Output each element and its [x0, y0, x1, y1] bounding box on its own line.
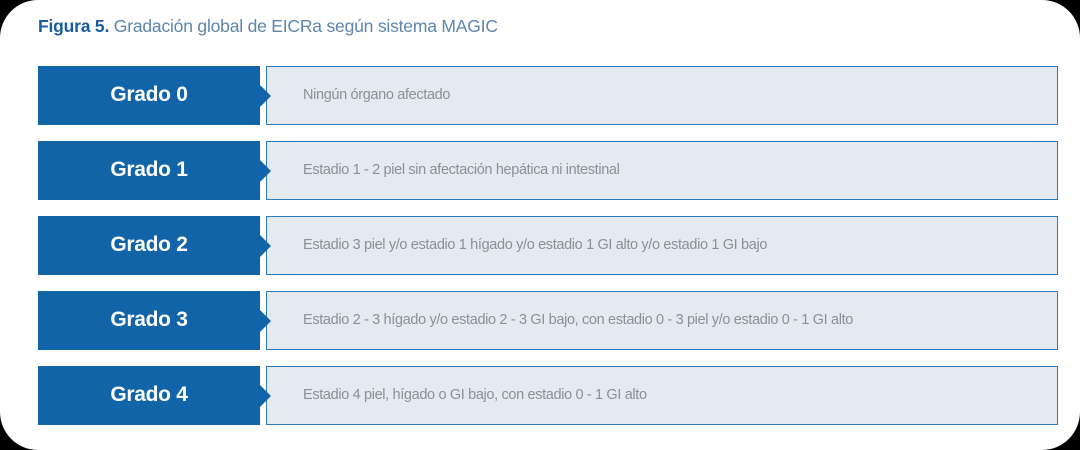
chevron-right-icon: [260, 385, 271, 407]
grade-description-text: Estadio 2 - 3 hígado y/o estadio 2 - 3 G…: [303, 311, 853, 329]
grade-block: Grado 4: [38, 366, 260, 425]
grade-description-panel: Estadio 3 piel y/o estadio 1 hígado y/o …: [266, 216, 1058, 275]
grade-description-text: Estadio 4 piel, hígado o GI bajo, con es…: [303, 386, 647, 404]
grade-description-panel: Estadio 1 - 2 piel sin afectación hepáti…: [266, 141, 1058, 200]
grade-description-panel: Estadio 2 - 3 hígado y/o estadio 2 - 3 G…: [266, 291, 1058, 350]
grade-block: Grado 1: [38, 141, 260, 200]
grade-label: Grado 1: [110, 159, 187, 180]
grade-list: Grado 0 Ningún órgano afectado Grado 1 E…: [38, 66, 1058, 425]
grade-label: Grado 0: [110, 84, 187, 105]
grade-block: Grado 3: [38, 291, 260, 350]
grade-description-panel: Ningún órgano afectado: [266, 66, 1058, 125]
figure-caption-text: Gradación global de EICRa según sistema …: [109, 16, 498, 36]
grade-label: Grado 2: [110, 234, 187, 255]
figure-card: Figura 5. Gradación global de EICRa segú…: [0, 0, 1080, 450]
grade-row: Grado 1 Estadio 1 - 2 piel sin afectació…: [38, 141, 1058, 200]
grade-label: Grado 4: [110, 384, 187, 405]
grade-block: Grado 0: [38, 66, 260, 125]
chevron-right-icon: [260, 310, 271, 332]
grade-label: Grado 3: [110, 309, 187, 330]
grade-block: Grado 2: [38, 216, 260, 275]
chevron-right-icon: [260, 160, 271, 182]
grade-description-text: Ningún órgano afectado: [303, 86, 450, 104]
grade-description-text: Estadio 3 piel y/o estadio 1 hígado y/o …: [303, 236, 767, 254]
figure-caption: Figura 5. Gradación global de EICRa segú…: [38, 16, 498, 37]
grade-row: Grado 0 Ningún órgano afectado: [38, 66, 1058, 125]
grade-row: Grado 4 Estadio 4 piel, hígado o GI bajo…: [38, 366, 1058, 425]
grade-row: Grado 3 Estadio 2 - 3 hígado y/o estadio…: [38, 291, 1058, 350]
chevron-right-icon: [260, 85, 271, 107]
grade-description-text: Estadio 1 - 2 piel sin afectación hepáti…: [303, 161, 620, 179]
grade-row: Grado 2 Estadio 3 piel y/o estadio 1 híg…: [38, 216, 1058, 275]
grade-description-panel: Estadio 4 piel, hígado o GI bajo, con es…: [266, 366, 1058, 425]
chevron-right-icon: [260, 235, 271, 257]
figure-caption-label: Figura 5.: [38, 16, 109, 36]
